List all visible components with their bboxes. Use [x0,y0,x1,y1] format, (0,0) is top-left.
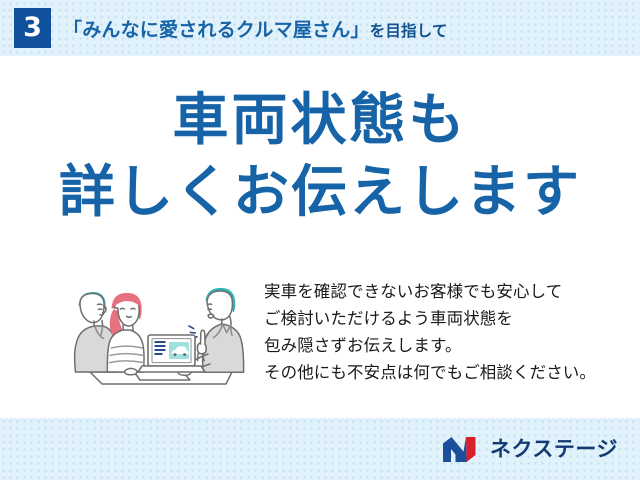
headline-line-2: 詳しくお伝えします [0,161,640,225]
headline: 車両状態も 詳しくお伝えします [0,89,640,225]
body-line-4: その他にも不安点は何でもご相談ください。 [264,359,624,386]
header-title: 「みんなに愛されるクルマ屋さん」を目指して [63,15,448,42]
illustration-svg [56,268,261,398]
body-line-3: 包み隠さずお伝えします。 [264,332,624,359]
header: 3 「みんなに愛されるクルマ屋さん」を目指して [0,0,640,56]
body-line-1: 実車を確認できないお客様でも安心して [264,278,624,305]
body-copy: 実車を確認できないお客様でも安心して ご検討いただけるよう車両状態を 包み隠さず… [264,278,624,386]
header-title-main: 「みんなに愛されるクルマ屋さん」 [63,20,370,41]
lower-content-row: 実車を確認できないお客様でも安心して ご検討いただけるよう車両状態を 包み隠さず… [0,268,640,418]
main-stage: 車両状態も 詳しくお伝えします [0,56,640,418]
nextage-n-logo-icon [442,436,482,463]
step-number-badge: 3 [14,8,51,48]
sales-consultation-illustration [56,268,261,398]
brand-name: ネクステージ [490,436,618,463]
headline-line-1: 車両状態も [0,89,640,153]
body-line-2: ご検討いただけるよう車両状態を [264,305,624,332]
header-title-tail: を目指して [370,23,448,40]
promo-poster: 3 「みんなに愛されるクルマ屋さん」を目指して 車両状態も 詳しくお伝えします [0,0,640,480]
brand-logo: ネクステージ [442,434,618,464]
